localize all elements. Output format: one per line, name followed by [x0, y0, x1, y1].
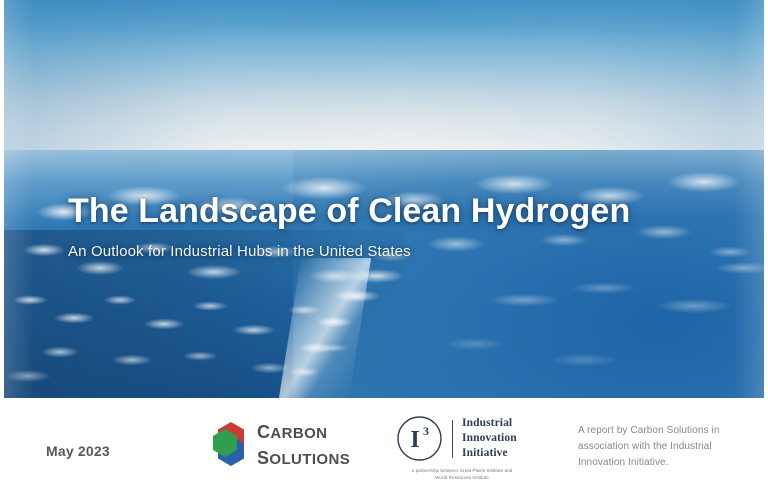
i3-badge-letter: I	[410, 427, 419, 453]
publication-date: May 2023	[46, 443, 110, 459]
carbon-solutions-logo: Carbon Solutions	[212, 418, 350, 469]
page-title: The Landscape of Clean Hydrogen	[68, 193, 728, 230]
report-cover-page: The Landscape of Clean Hydrogen An Outlo…	[0, 0, 768, 497]
i3-badge-exponent: 3	[423, 424, 429, 438]
carbon-solutions-word-line-1: Carbon	[257, 418, 350, 443]
i3-logo: I 3 Industrial Innovation Initiative a p…	[396, 415, 528, 481]
i3-tagline-line-1: a partnership between Great Plains Insti…	[396, 467, 528, 474]
i3-wordmark: Industrial Innovation Initiative	[462, 416, 517, 462]
i3-name-line-3: Initiative	[462, 446, 517, 461]
title-block: The Landscape of Clean Hydrogen An Outlo…	[68, 193, 728, 260]
carbon-solutions-hexagon-icon	[212, 421, 248, 467]
i3-tagline: a partnership between Great Plains Insti…	[396, 467, 528, 481]
i3-name-line-1: Industrial	[462, 416, 517, 431]
carbon-solutions-wordmark: Carbon Solutions	[257, 418, 350, 469]
page-subtitle: An Outlook for Industrial Hubs in the Un…	[68, 243, 728, 260]
i3-divider	[452, 420, 453, 458]
hero-earth-image: The Landscape of Clean Hydrogen An Outlo…	[4, 0, 764, 398]
i3-tagline-line-2: World Resources Institute	[396, 474, 528, 481]
carbon-solutions-word-line-2: Solutions	[257, 444, 350, 469]
i3-logo-row: I 3 Industrial Innovation Initiative	[396, 415, 528, 462]
i3-name-line-2: Innovation	[462, 431, 517, 446]
i3-circle-badge-icon: I 3	[396, 415, 443, 462]
report-attribution-note: A report by Carbon Solutions in associat…	[578, 423, 738, 472]
